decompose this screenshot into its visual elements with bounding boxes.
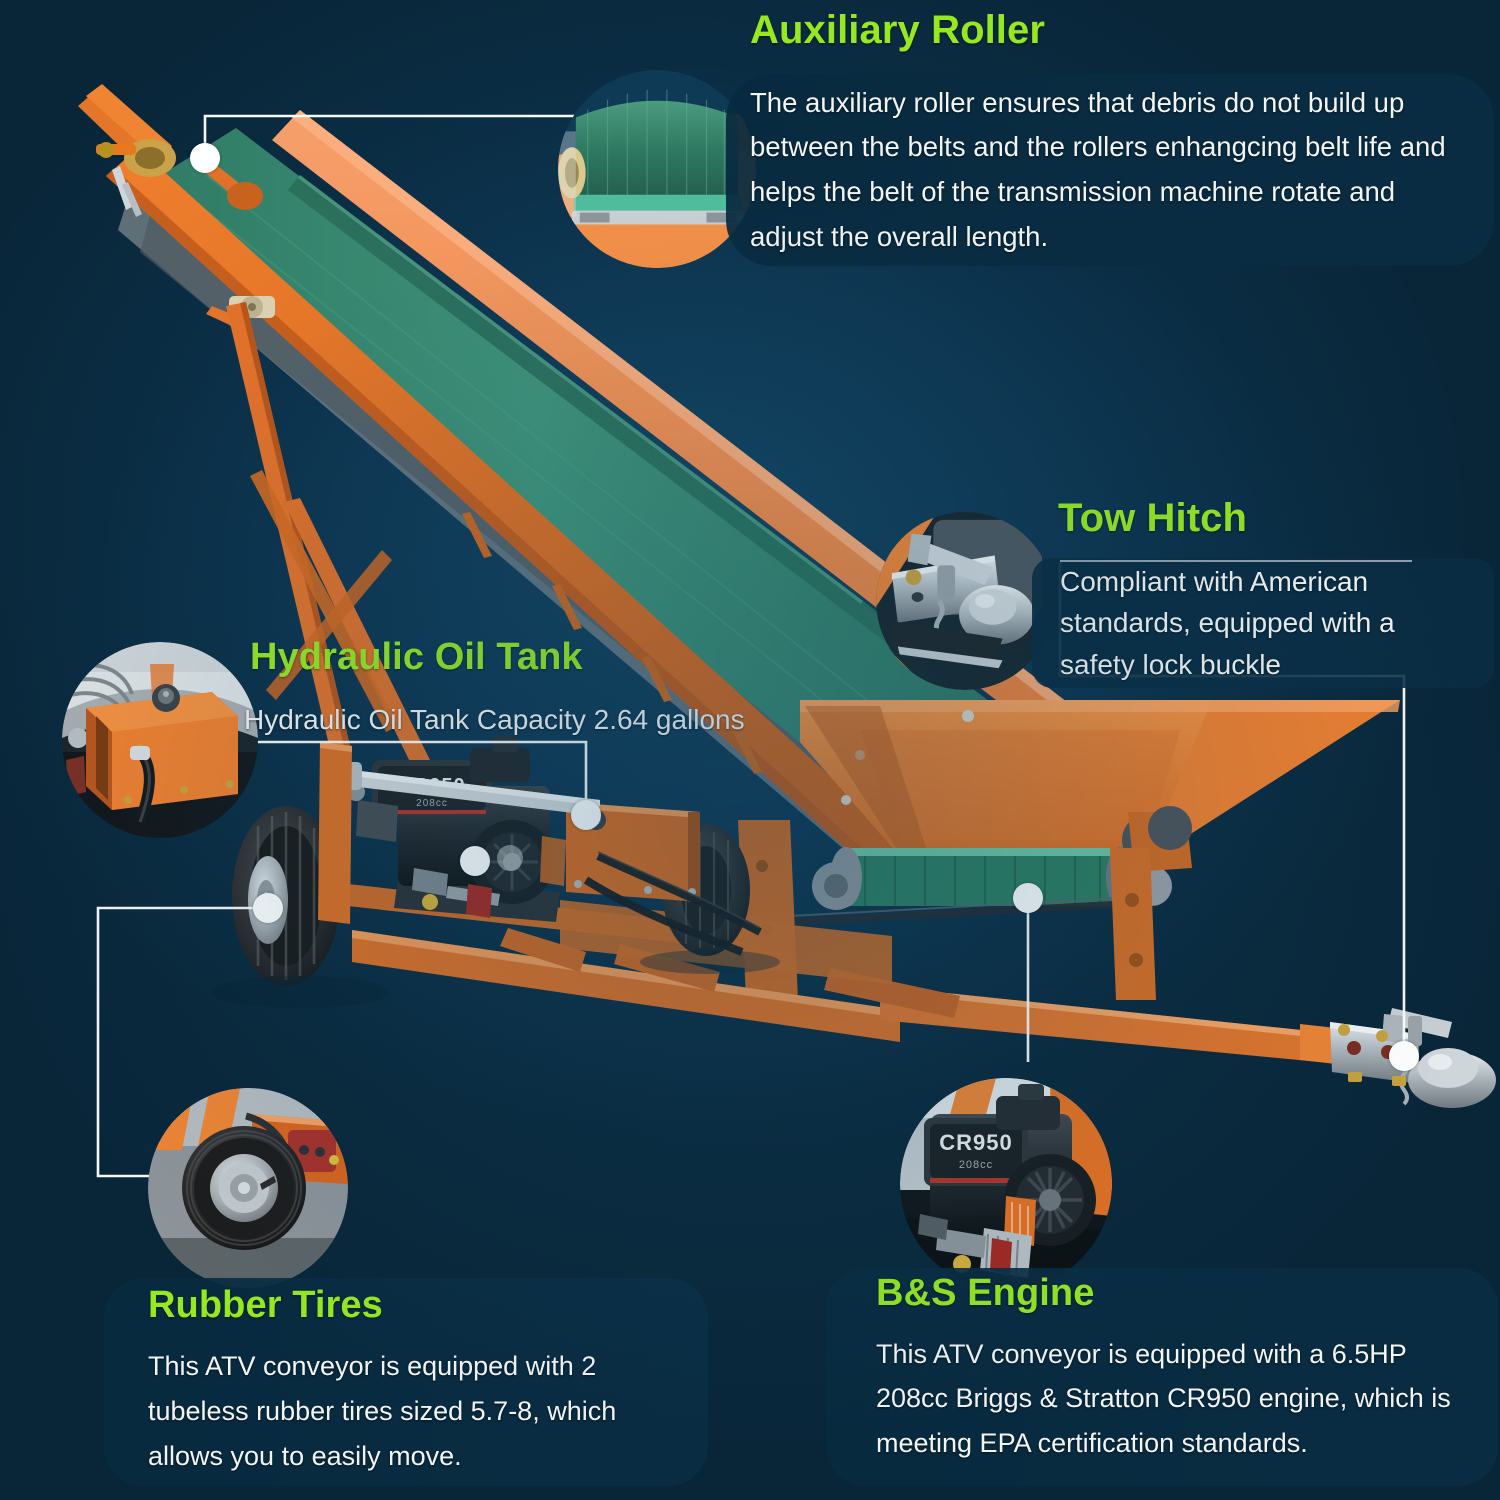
marker-dot-bs-engine bbox=[460, 846, 490, 876]
bs-engine-photo: CR950 208cc bbox=[900, 1078, 1112, 1290]
callout-title-bs-engine: B&S Engine bbox=[876, 1272, 1094, 1315]
callout-body-tow-hitch: Compliant with American standards, equip… bbox=[1060, 561, 1476, 685]
callout-panel-hydraulic-oil-tank: Hydraulic Oil Tank Capacity 2.64 gallons bbox=[244, 692, 824, 748]
rubber-tire-photo bbox=[148, 1088, 348, 1288]
callout-body-hydraulic-oil-tank: Hydraulic Oil Tank Capacity 2.64 gallons bbox=[244, 703, 745, 737]
hydraulic-oil-tank-photo bbox=[62, 642, 258, 838]
callout-title-tow-hitch: Tow Hitch bbox=[1058, 496, 1247, 541]
callout-body-rubber-tires: This ATV conveyor is equipped with 2 tub… bbox=[148, 1344, 686, 1478]
marker-dot-engine-frame bbox=[1013, 883, 1043, 913]
callout-title-auxiliary-roller: Auxiliary Roller bbox=[750, 8, 1045, 53]
callout-body-auxiliary-roller: The auxiliary roller ensures that debris… bbox=[750, 81, 1468, 259]
marker-dot-tow-hitch bbox=[1389, 1041, 1419, 1071]
callout-title-hydraulic-oil-tank: Hydraulic Oil Tank bbox=[250, 636, 583, 679]
tow-hitch-photo bbox=[876, 512, 1054, 690]
marker-dot-rubber-tires bbox=[253, 893, 283, 923]
callout-panel-auxiliary-roller: The auxiliary roller ensures that debris… bbox=[726, 74, 1494, 266]
infographic-canvas: CR950 208cc bbox=[0, 0, 1500, 1500]
callout-title-rubber-tires: Rubber Tires bbox=[148, 1284, 383, 1327]
marker-dot-hydraulic-oil-tank bbox=[571, 800, 601, 830]
tow-hitch-panel-top-rule bbox=[1060, 560, 1412, 562]
callout-body-bs-engine: This ATV conveyor is equipped with a 6.5… bbox=[876, 1332, 1482, 1465]
engine-displacement-decal: 208cc bbox=[959, 1159, 993, 1171]
engine-model-decal: CR950 bbox=[939, 1130, 1012, 1155]
marker-dot-auxiliary-roller bbox=[190, 143, 220, 173]
callout-panel-tow-hitch: Compliant with American standards, equip… bbox=[1032, 558, 1494, 688]
